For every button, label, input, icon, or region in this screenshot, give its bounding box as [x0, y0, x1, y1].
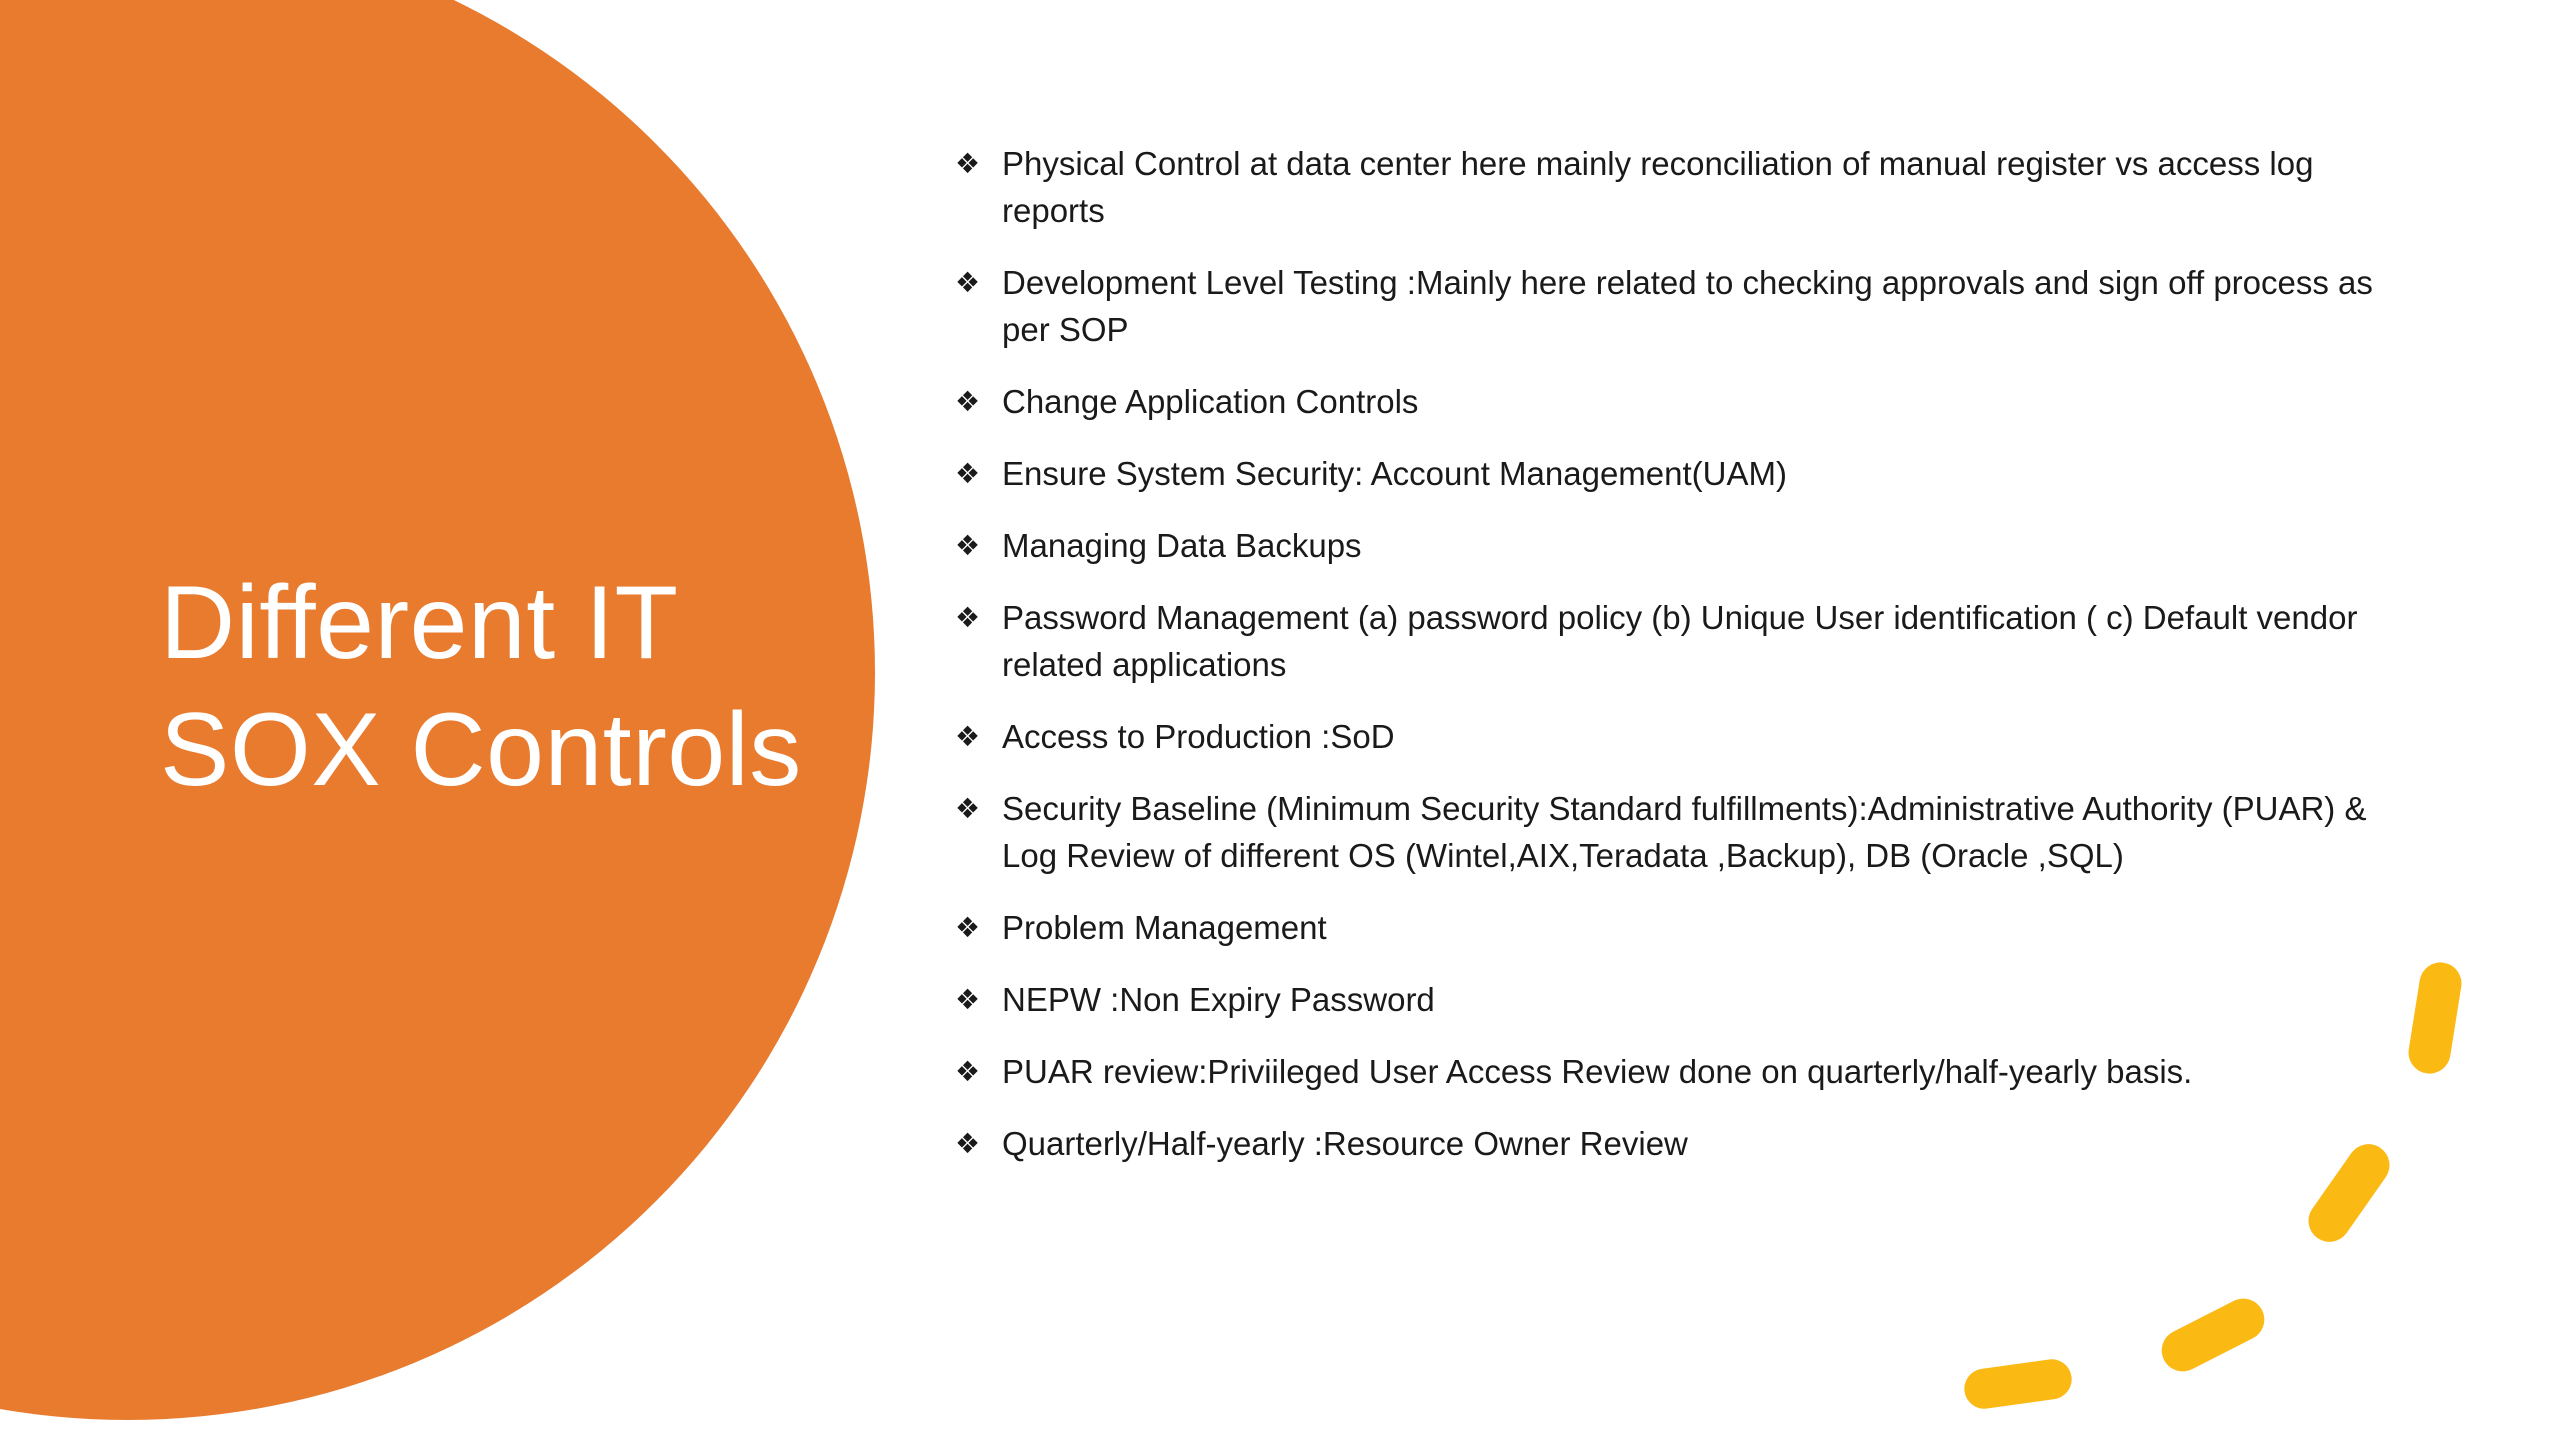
diamond-bullet-icon: ❖ [955, 378, 1002, 425]
list-item-label: Problem Management [1002, 904, 2385, 951]
decorative-dash-3 [2154, 1291, 2271, 1378]
list-item: ❖Quarterly/Half-yearly :Resource Owner R… [955, 1120, 2385, 1167]
diamond-bullet-icon: ❖ [955, 904, 1002, 951]
list-item-label: Password Management (a) password policy … [1002, 594, 2385, 688]
list-item-label: Change Application Controls [1002, 378, 2385, 425]
diamond-bullet-icon: ❖ [955, 522, 1002, 569]
list-item: ❖Ensure System Security: Account Managem… [955, 450, 2385, 497]
decorative-dash-4 [1962, 1357, 2075, 1412]
list-item: ❖Managing Data Backups [955, 522, 2385, 569]
list-item: ❖PUAR review:Priviileged User Access Rev… [955, 1048, 2385, 1095]
list-item: ❖Physical Control at data center here ma… [955, 140, 2385, 234]
diamond-bullet-icon: ❖ [955, 976, 1002, 1023]
list-item-label: Development Level Testing :Mainly here r… [1002, 259, 2385, 353]
list-item: ❖NEPW :Non Expiry Password [955, 976, 2385, 1023]
list-item-label: Quarterly/Half-yearly :Resource Owner Re… [1002, 1120, 2385, 1167]
diamond-bullet-icon: ❖ [955, 259, 1002, 306]
list-item: ❖Security Baseline (Minimum Security Sta… [955, 785, 2385, 879]
list-item: ❖Development Level Testing :Mainly here … [955, 259, 2385, 353]
list-item-label: Security Baseline (Minimum Security Stan… [1002, 785, 2385, 879]
page-title: Different IT SOX Controls [160, 560, 850, 814]
decorative-dash-1 [2405, 959, 2464, 1076]
list-item-label: Ensure System Security: Account Manageme… [1002, 450, 2385, 497]
diamond-bullet-icon: ❖ [955, 1048, 1002, 1095]
list-item-label: NEPW :Non Expiry Password [1002, 976, 2385, 1023]
diamond-bullet-icon: ❖ [955, 140, 1002, 187]
list-item: ❖Change Application Controls [955, 378, 2385, 425]
slide-canvas: Different IT SOX Controls ❖Physical Cont… [0, 0, 2560, 1440]
list-item-label: Access to Production :SoD [1002, 713, 2385, 760]
list-item: ❖Access to Production :SoD [955, 713, 2385, 760]
list-item-label: Physical Control at data center here mai… [1002, 140, 2385, 234]
diamond-bullet-icon: ❖ [955, 1120, 1002, 1167]
diamond-bullet-icon: ❖ [955, 713, 1002, 760]
list-item: ❖Problem Management [955, 904, 2385, 951]
list-item: ❖Password Management (a) password policy… [955, 594, 2385, 688]
list-item-label: Managing Data Backups [1002, 522, 2385, 569]
diamond-bullet-icon: ❖ [955, 785, 1002, 832]
list-item-label: PUAR review:Priviileged User Access Revi… [1002, 1048, 2385, 1095]
diamond-bullet-icon: ❖ [955, 450, 1002, 497]
diamond-bullet-icon: ❖ [955, 594, 1002, 641]
bullet-list: ❖Physical Control at data center here ma… [955, 140, 2385, 1192]
